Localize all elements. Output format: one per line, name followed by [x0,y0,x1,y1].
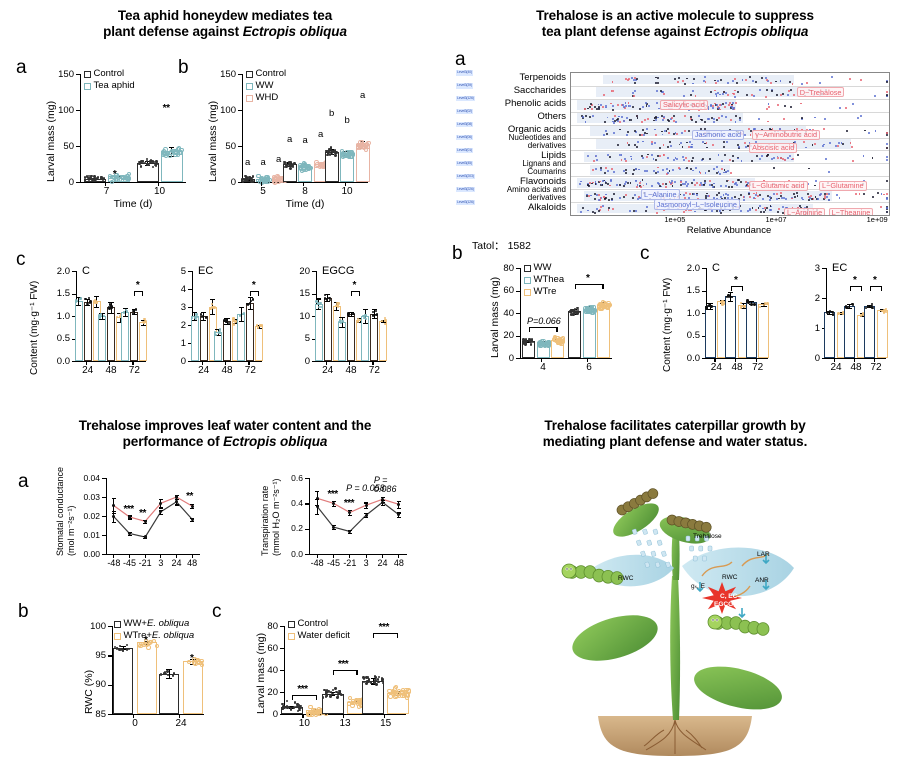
metabolite-point [656,90,658,92]
metabolite-point [777,211,779,213]
metabolite-point [608,199,610,201]
metabolite-point [693,78,695,80]
error-cap [397,508,401,509]
metabolite-point [607,183,609,185]
metabolite-point [691,182,693,184]
x-tick-label: 13 [329,719,361,729]
level-tag: Level3(08) [456,122,473,127]
y-tick [312,294,316,295]
y-tick [822,298,826,299]
metabolite-point [676,133,678,135]
y-tick [280,626,284,627]
illustration-label-1: RWC [618,576,633,583]
y-tick-label: 0.0 [682,354,700,364]
metabolite-point [635,168,637,170]
data-point [867,305,869,307]
data-point [375,310,377,312]
honeydew-droplet [651,551,656,557]
figure1-panel-b-xlabel: Time (d) [242,199,368,210]
molecule-label-6: L−Glutamine [819,181,867,191]
significance-bracket [134,291,143,292]
metabolite-point [682,183,684,185]
metabolite-point [723,141,725,143]
y-tick-label: 10 [292,312,310,322]
significance-marker: P = 0.086 [374,476,411,494]
metabolite-point [713,168,715,170]
tea-plant-diagram: TrehaloseRWCgₛ, ERWCLARANRC, ECEGCG, ECG [450,458,900,762]
figure3-panel-b-legend-label: WTre+E. obliqua [124,630,195,642]
bar [255,326,263,361]
metabolite-point [789,155,791,157]
data-point [708,304,710,306]
honeydew-droplet [657,540,662,546]
figure2-panel-b-chart: 02040608046WWWTheaWTreLarval mass (mg)P=… [496,262,616,374]
group-letter: a [261,158,266,168]
data-point [306,166,310,170]
data-point [339,319,341,321]
significance-bracket [292,695,317,696]
level-tag: Level3(126) [456,96,475,101]
data-point [329,148,331,150]
ylabel-line2: (mol m⁻²s⁻¹) [67,506,76,557]
metabolite-point [886,134,888,136]
metabolite-point [828,199,830,201]
figure3-panel-b-legend-swatch [114,633,121,640]
figure1-panel-a-legend: ControlTea aphid [84,68,135,92]
metabolite-point [808,168,810,170]
data-point [193,661,197,665]
significance-marker: * [853,276,856,286]
illustration-label-7: EGCG, ECG [714,602,751,609]
error-cap [363,309,368,310]
line-series-group [76,472,204,570]
y-tick-label: 150 [212,70,236,80]
error-cap [192,320,197,321]
data-point [340,694,342,696]
metabolite-point [611,198,613,200]
metabolite-point [665,186,667,188]
metabolite-point [787,157,789,159]
y-tick-label: 0 [292,357,310,367]
metabolite-point [769,199,771,201]
metabolite-point [719,210,721,212]
metabolite-point [734,96,736,98]
honeydew-droplet [708,546,712,551]
error-cap [210,299,215,300]
data-point [128,515,131,518]
figure3-panel-b-legend-swatch [114,621,121,628]
metabolite-point [667,128,669,130]
metabolite-point [686,167,688,169]
data-point [350,703,354,707]
metabolite-point [860,79,862,81]
metabolite-point [819,82,821,84]
data-point [376,313,378,315]
metabolite-point [710,105,712,107]
metabolite-point [662,169,664,171]
metabolite-point [663,93,665,95]
figure3-title: Trehalose improves leaf water content an… [0,410,450,451]
error-cap [397,517,401,518]
illustration-label-0: Trehalose [693,534,722,541]
x-tick-label: 1e+09 [859,216,895,224]
metabolite-point [851,146,853,148]
error-cap [348,515,352,516]
figure1-panel-c-ylabel: Content (mg·g⁻¹ FW) [30,281,40,375]
metabolite-point [683,194,685,196]
metabolite-point [886,81,888,83]
bar [223,321,231,361]
data-point [144,520,147,523]
data-point [102,178,104,180]
metabolite-point [886,193,888,195]
y-tick [822,358,826,359]
metabolite-point [837,145,839,147]
significance-bracket [373,633,398,634]
bar [98,316,106,361]
metabolite-point [732,160,734,162]
metabolite-point [683,211,685,213]
category-label: Nucleotides and derivatives [482,134,566,150]
data-point [337,692,339,694]
metabolite-point [703,184,705,186]
data-point [126,644,128,646]
y-tick [280,714,284,715]
error-cap [348,533,352,534]
honeydew-droplet [690,546,694,551]
metabolite-point [767,121,769,123]
metabolite-point [849,78,851,80]
x-axis [112,714,204,715]
metabolite-point [810,195,812,197]
x-tick-label: 1e+07 [758,216,794,224]
y-tick-label: 3 [168,303,186,313]
data-point [297,710,299,712]
metabolite-point [701,184,703,186]
error-cap [239,307,244,308]
data-point [753,303,755,305]
data-point [213,306,215,308]
data-point [336,696,338,698]
metabolite-point [771,158,773,160]
metabolite-point [726,180,728,182]
metabolite-point [646,128,648,130]
metabolite-point [863,193,865,195]
metabolite-point [660,90,662,92]
subplot-title: EC [198,266,213,277]
significance-bracket [529,327,558,328]
category-label: Phenolic acids [482,99,566,109]
molecule-label-9: L−Arginine [784,208,825,216]
error-cap [315,491,319,492]
data-point [316,505,319,508]
y-tick-label: 5 [292,334,310,344]
metabolite-point [824,118,826,120]
metabolite-point [783,197,785,199]
x-tick-label: 10 [288,719,320,729]
error-cap [159,514,163,515]
metabolite-point [737,179,739,181]
metabolite-point [864,130,866,132]
figure2-panel-b-legend-row: WW [524,262,564,274]
error-cap [348,316,353,317]
error-cap [108,313,113,314]
y-tick [108,626,112,627]
metabolite-point [633,169,635,171]
data-point [97,176,99,178]
subplot-title: EGCG [322,266,354,277]
honeydew-droplet [647,540,652,546]
error-cap [94,307,99,308]
row-divider [571,112,889,113]
metabolite-point [836,194,838,196]
y-tick-label: 1.0 [52,312,70,322]
metabolite-point [613,122,615,124]
figure1-panel-b-legend-label: WW [256,80,274,92]
data-point [404,692,408,696]
y-tick-label: 80 [258,622,278,632]
metabolite-point [716,172,718,174]
figure3-panel-b-ylabel: RWC (%) [84,670,95,714]
bar [370,314,378,361]
metabolite-point [598,194,600,196]
figure3-panel-c-legend-swatch [288,633,295,640]
category-label: Saccharides [482,86,566,96]
metabolite-point [669,141,671,143]
error-cap [315,499,319,500]
metabolite-point [684,130,686,132]
data-point [179,148,183,152]
metabolite-point [719,173,721,175]
metabolite-point [716,210,718,212]
row-divider [571,125,889,126]
metabolite-point [776,193,778,195]
metabolite-point [603,94,605,96]
metabolite-point [716,104,718,106]
metabolite-point [815,180,817,182]
figure1-panel-a-ylabel: Larval mass (mg) [46,101,57,182]
metabolite-point [730,119,732,121]
data-point [147,164,149,166]
metabolite-point [702,141,704,143]
error-cap [175,504,179,505]
data-point [377,681,379,683]
metabolite-point [695,167,697,169]
error-cap [315,514,319,515]
figure1-panel-b-chart: 0501001505810ControlWWWHDLarval mass (mg… [212,68,372,198]
bar [75,301,83,361]
y-tick [108,685,112,686]
plant-illustration-svg [450,458,900,762]
data-point [172,674,174,676]
row-divider [571,163,889,164]
figure-trehalose-leaf-water: Trehalose improves leaf water content an… [0,410,450,762]
metabolite-point [610,180,612,182]
metabolite-point [828,193,830,195]
molecule-label-7: L−Alanine [641,189,680,199]
metabolite-point [696,182,698,184]
level-tag: Level3(39) [456,83,473,88]
metabolite-point [654,142,656,144]
y-axis [242,74,243,183]
metabolite-point [673,115,675,117]
metabolite-point [880,206,882,208]
metabolite-point [852,160,854,162]
metabolite-point [712,186,714,188]
data-point [284,166,286,168]
ylabel-line1: Transpiration rate [261,486,270,556]
illustration-label-2: gₛ, E [691,584,705,591]
significance-marker: * [113,170,116,180]
y-tick [108,655,112,656]
bar [746,302,757,358]
y-tick [702,268,706,269]
data-point [140,160,142,162]
metabolite-point [744,142,746,144]
bar [214,332,222,361]
bar [191,316,199,361]
y-tick-label: 0.5 [52,334,70,344]
bar [877,310,888,358]
metabolite-point [722,93,724,95]
data-point [218,332,220,334]
metabolite-point [748,128,750,130]
metabolite-point [782,158,784,160]
significance-bracket [575,284,604,285]
error-cap [99,319,104,320]
x-tick-label: 72 [118,366,150,376]
metabolite-point [859,193,861,195]
metabolite-point [855,193,857,195]
level-tag: Level3(45) [456,161,473,166]
metabolite-point [586,195,588,197]
row-divider [571,99,889,100]
x-tick-label: 8 [289,187,321,197]
figure1-panel-a-legend-swatch [84,71,91,78]
figure1-title: Tea aphid honeydew mediates tea plant de… [0,0,450,41]
x-tick-label: 5 [247,187,279,197]
data-point [363,677,365,679]
data-point [219,328,221,330]
error-cap [316,309,321,310]
metabolite-point [730,172,732,174]
metabolite-point [624,183,626,185]
metabolite-point [745,181,747,183]
honeydew-droplet [653,529,658,535]
data-point [871,307,873,309]
metabolite-point [603,196,605,198]
metabolite-point [720,79,722,81]
figure2-panel-c-subplot-C: 0.00.51.01.52.0244872C* [682,262,772,374]
metabolite-point [735,115,737,117]
data-point [173,151,177,155]
data-point [361,145,365,149]
significance-marker: * [353,281,356,291]
error-cap [364,517,368,518]
y-tick-label: 15 [292,289,310,299]
metabolite-point [598,210,600,212]
bar [324,298,332,361]
significance-bracket [731,286,744,287]
metabolite-point [886,180,888,182]
figure1-panel-a-xlabel: Time (d) [80,199,186,210]
metabolite-point [872,157,874,159]
metabolite-point [707,195,709,197]
figure2-panel-a-xlabel: Relative Abundance [570,226,888,236]
group-letter: b [329,109,334,119]
metabolite-point [629,210,631,212]
error-cap [248,309,253,310]
data-point [261,324,263,326]
honeydew-droplet [642,529,647,535]
data-point [331,153,333,155]
error-cap [707,309,712,310]
error-cap [332,506,336,507]
y-tick-label: 0.5 [682,331,700,341]
significance-marker: * [136,281,139,291]
bar [200,316,208,361]
figure3-stomatal-conductance-chart: 0.000.010.020.030.04-48-45-2132448Stomat… [76,472,204,570]
figure2-scatter-panel: D−TrehaloseSalicylic acidJasmonic acidγ−… [450,66,900,236]
figure1-panel-a-legend-row: Control [84,68,135,80]
illustration-label-5: ANR [755,578,769,585]
bar [107,307,115,361]
metabolite-point [692,157,694,159]
figure4-title-line2: mediating plant defense and water status… [543,434,807,449]
error-cap [190,508,194,509]
figure2-panel-b-legend-swatch [524,265,531,272]
metabolite-point [612,105,614,107]
level-tag: Level3(01) [456,148,473,153]
significance-marker: * [734,276,737,286]
subplot-title: C [712,263,720,274]
caterpillar [708,615,769,635]
data-point [259,177,263,181]
bar [362,681,384,714]
metabolite-point [674,181,676,183]
y-tick [280,692,284,693]
x-tick-label: 6 [573,363,605,373]
y-tick [516,268,520,269]
metabolite-point [636,146,638,148]
illustration-label-3: RWC [722,575,737,582]
data-point [341,152,345,156]
metabolite-point [625,160,627,162]
x-tick-label: 1e+05 [657,216,693,224]
metabolite-point [797,154,799,156]
honeydew-droplet [636,540,641,546]
data-point [325,695,327,697]
y-tick-label: 2 [168,321,186,331]
data-point [557,340,561,344]
metabolite-point [766,89,768,91]
data-point [366,145,370,149]
metabolite-point [684,83,686,85]
error-cap [166,678,171,679]
metabolite-point [625,194,627,196]
metabolite-point [822,145,824,147]
metabolite-point [579,183,581,185]
category-label: Others [482,112,566,122]
y-tick [72,361,76,362]
y-tick-label: 1.5 [682,286,700,296]
y-tick-label: 2.0 [52,267,70,277]
metabolite-point [659,155,661,157]
y-tick-label: 5 [168,267,186,277]
y-tick [76,182,80,183]
ylabel-line2: (mmol H₂O m⁻²s⁻¹) [272,479,281,556]
significance-marker: *** [344,499,354,509]
